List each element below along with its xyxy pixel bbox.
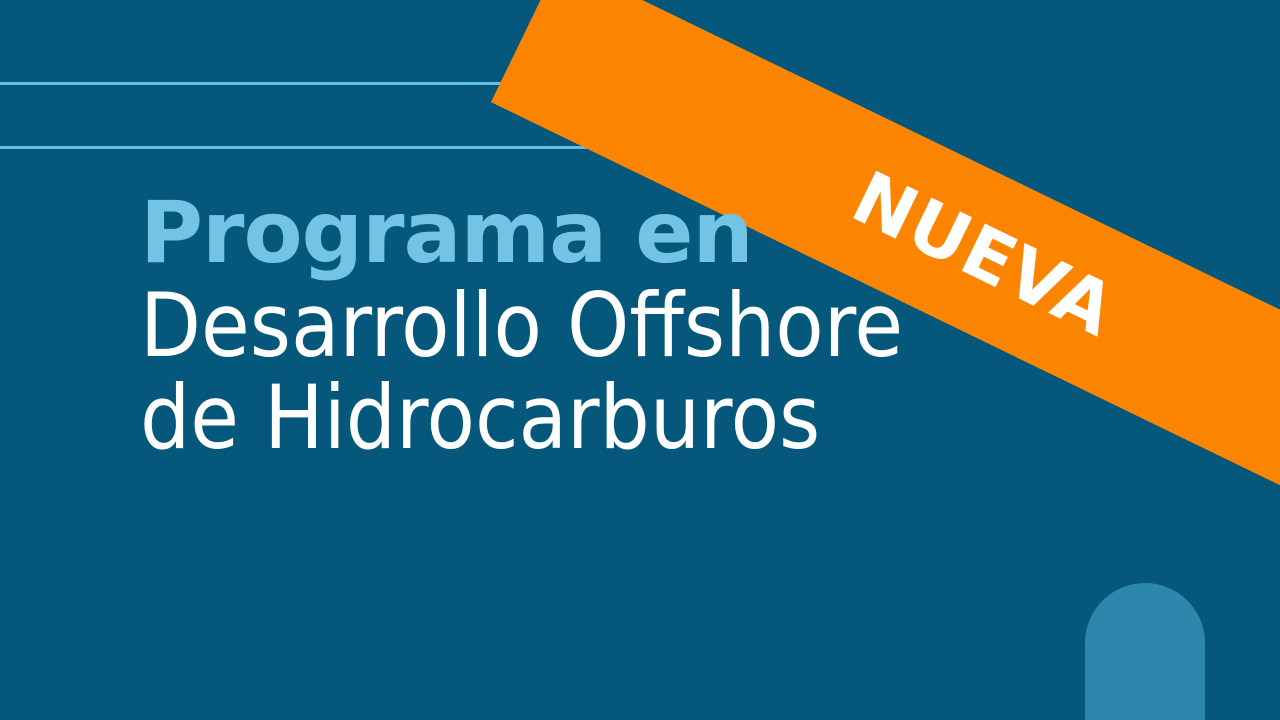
title-line-1: Programa en bbox=[140, 192, 1140, 275]
rounded-block-icon bbox=[1085, 583, 1205, 720]
title-line-3: de Hidrocarburos bbox=[140, 375, 1140, 460]
promo-slide: NUEVA Programa en Desarrollo Offshore de… bbox=[0, 0, 1280, 720]
title-line-2: Desarrollo Offshore bbox=[140, 283, 1140, 368]
page-title: Programa en Desarrollo Offshore de Hidro… bbox=[140, 192, 1140, 460]
